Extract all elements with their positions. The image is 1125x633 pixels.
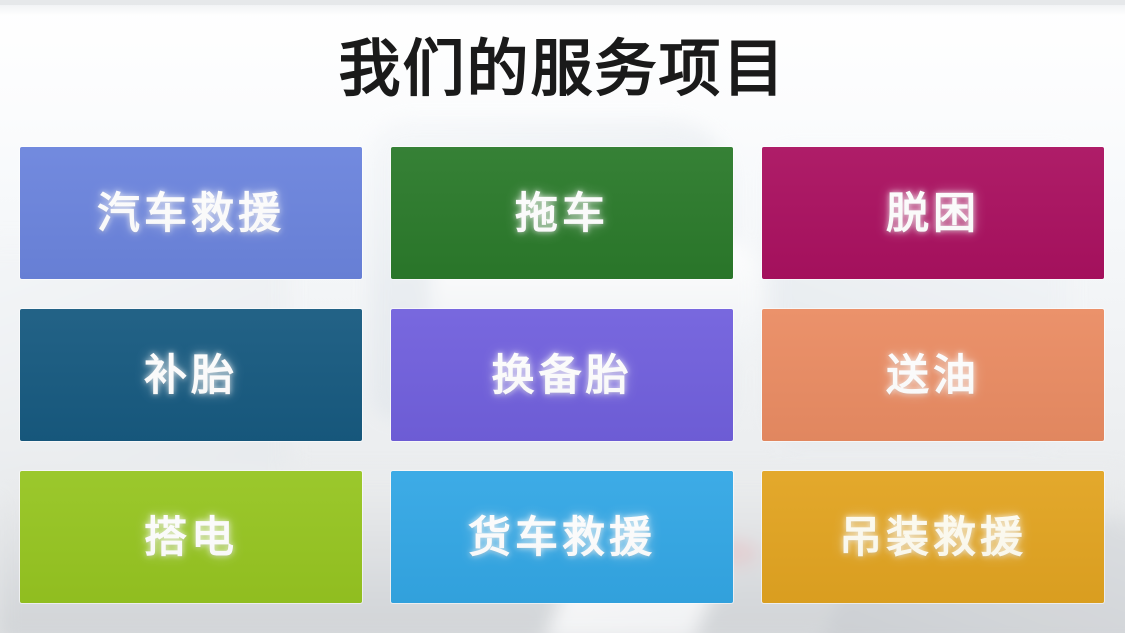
service-tile-fuel-delivery[interactable]: 送油 xyxy=(762,309,1104,441)
service-tile-spare-tire-change[interactable]: 换备胎 xyxy=(391,309,733,441)
service-tile-crane-rescue[interactable]: 吊装救援 xyxy=(762,471,1104,603)
service-tile-extraction[interactable]: 脱困 xyxy=(762,147,1104,279)
service-tile-label: 汽车救援 xyxy=(97,193,285,236)
service-tile-jump-start[interactable]: 搭电 xyxy=(20,471,362,603)
service-tile-tire-repair[interactable]: 补胎 xyxy=(20,309,362,441)
service-tile-towing[interactable]: 拖车 xyxy=(391,147,733,279)
service-poster: 我们的服务项目 汽车救援拖车脱困补胎换备胎送油搭电货车救援吊装救援 xyxy=(0,0,1125,633)
service-tile-label: 吊装救援 xyxy=(839,517,1027,560)
service-tile-label: 补胎 xyxy=(144,355,238,398)
service-tile-label: 送油 xyxy=(886,355,980,398)
service-tile-label: 换备胎 xyxy=(492,355,633,398)
title-bar: 我们的服务项目 xyxy=(0,0,1125,128)
service-tile-truck-rescue[interactable]: 货车救援 xyxy=(391,471,733,603)
service-tile-label: 搭电 xyxy=(144,517,238,560)
service-tile-roadside-assistance[interactable]: 汽车救援 xyxy=(20,147,362,279)
service-tile-label: 脱困 xyxy=(886,193,980,236)
service-tile-label: 拖车 xyxy=(515,193,609,236)
page-title: 我们的服务项目 xyxy=(338,28,786,100)
service-tile-grid: 汽车救援拖车脱困补胎换备胎送油搭电货车救援吊装救援 xyxy=(20,147,1105,603)
service-tile-label: 货车救援 xyxy=(468,517,656,560)
